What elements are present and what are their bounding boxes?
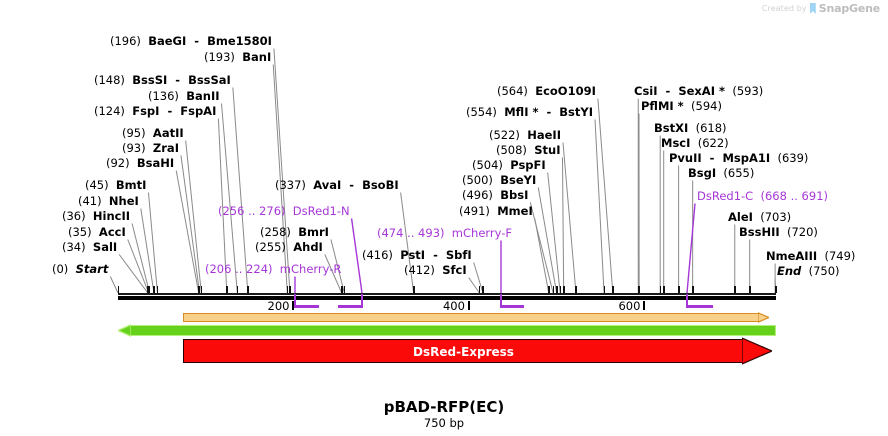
enzyme-site-label[interactable]: CsiI - SexAI * (593) xyxy=(634,85,763,98)
primer-bar[interactable] xyxy=(338,305,363,308)
enzyme-site-label[interactable]: (92) BsaHI xyxy=(106,157,174,170)
promoter-arrowhead-right-icon xyxy=(758,312,769,323)
enzyme-site-label[interactable]: (95) AatII xyxy=(122,127,184,140)
enzyme-site-label[interactable]: (193) BanI xyxy=(204,51,271,64)
enzyme-site-label[interactable]: NmeAIII (749) xyxy=(766,250,855,263)
enzyme-site-label[interactable]: BsgI (655) xyxy=(688,167,754,180)
enzyme-site-label[interactable]: AleI (703) xyxy=(728,211,791,224)
restriction-site-tick xyxy=(287,286,288,293)
restriction-site-tick xyxy=(479,286,480,293)
restriction-site-tick xyxy=(749,286,750,293)
page-title: pBAD-RFP(EC) xyxy=(0,398,888,416)
axis-tick-label: 600 xyxy=(588,299,640,313)
enzyme-site-label[interactable]: (148) BssSI - BssSaI xyxy=(94,74,231,87)
restriction-site-tick xyxy=(201,286,202,293)
enzyme-site-label[interactable]: (258) BmrI xyxy=(260,226,329,239)
primer-feature-label[interactable]: (474 .. 493) mCherry-F xyxy=(377,227,512,240)
restriction-site-tick xyxy=(692,286,693,293)
primer-bar-stem xyxy=(500,294,502,307)
restriction-site-tick xyxy=(344,286,345,293)
restriction-site-tick xyxy=(556,286,557,293)
restriction-site-tick xyxy=(604,286,605,293)
enzyme-site-label[interactable]: (45) BmtI xyxy=(85,179,146,192)
feature-track-promoter[interactable] xyxy=(183,313,768,322)
enzyme-site-label[interactable]: (491) MmeI xyxy=(459,205,533,218)
enzyme-site-label[interactable]: (496) BbsI xyxy=(462,189,528,202)
cds-label: DsRed-Express xyxy=(184,340,743,364)
enzyme-site-label[interactable]: (255) AhdI xyxy=(255,241,323,254)
axis-tick-mark xyxy=(468,301,470,310)
feature-track-reverse[interactable] xyxy=(118,325,776,336)
enzyme-site-label[interactable]: (564) EcoO109I xyxy=(497,85,596,98)
primer-bar[interactable] xyxy=(500,305,524,308)
restriction-site-tick xyxy=(734,286,735,293)
enzyme-site-label[interactable]: (554) MflI * - BstYI xyxy=(466,106,593,119)
snapgene-ribbon-icon xyxy=(810,3,816,14)
primer-bar-stem xyxy=(294,294,296,307)
enzyme-site-label[interactable]: (34) SalI xyxy=(62,241,117,254)
restriction-site-tick xyxy=(560,286,561,293)
cds-bar: DsRed-Express xyxy=(183,339,744,363)
axis-tick-label: 200 xyxy=(237,299,289,313)
snapgene-watermark: Created by SnapGene xyxy=(762,2,880,15)
restriction-site-tick xyxy=(289,286,290,293)
restriction-site-tick xyxy=(237,286,238,293)
enzyme-site-label[interactable]: (36) HincII xyxy=(62,210,130,223)
restriction-site-tick xyxy=(247,286,248,293)
restriction-site-tick xyxy=(678,286,679,293)
enzyme-site-label[interactable]: (504) PspFI xyxy=(472,159,546,172)
restriction-site-tick xyxy=(157,286,158,293)
enzyme-site-label[interactable]: (522) HaeII xyxy=(489,129,561,142)
restriction-site-tick xyxy=(660,286,661,293)
restriction-site-tick xyxy=(639,286,640,293)
restriction-site-tick xyxy=(575,286,576,293)
restriction-site-tick xyxy=(663,286,664,293)
restriction-site-tick xyxy=(612,286,613,293)
restriction-site-tick xyxy=(226,286,227,293)
restriction-site-tick xyxy=(153,286,154,293)
primer-feature-label[interactable]: (256 .. 276) DsRed1-N xyxy=(218,205,350,218)
enzyme-site-label[interactable]: (416) PstI - SbfI xyxy=(362,249,472,262)
restriction-site-tick xyxy=(553,286,554,293)
enzyme-site-label[interactable]: (136) BanII xyxy=(148,90,220,103)
enzyme-site-label[interactable]: BssHII (720) xyxy=(739,226,818,239)
primer-bar[interactable] xyxy=(294,305,319,308)
watermark-created-by-label: Created by xyxy=(762,4,807,13)
axis-tick-mark xyxy=(643,301,645,310)
promoter-bar xyxy=(183,313,759,322)
primer-bar[interactable] xyxy=(686,305,713,308)
restriction-site-tick xyxy=(482,286,483,293)
reverse-feature-bar xyxy=(128,325,776,336)
restriction-site-tick xyxy=(118,286,119,293)
restriction-site-tick xyxy=(147,286,148,293)
restriction-site-tick xyxy=(548,286,549,293)
plasmid-length-label: 750 bp xyxy=(0,416,888,430)
enzyme-site-label[interactable]: (196) BaeGI - Bme1580I xyxy=(110,35,272,48)
enzyme-site-label[interactable]: (412) SfcI xyxy=(404,264,467,277)
enzyme-site-label[interactable]: (41) NheI xyxy=(78,195,139,208)
enzyme-site-label[interactable]: PvuII - MspA1I (639) xyxy=(669,152,808,165)
enzyme-site-label[interactable]: BstXI (618) xyxy=(654,122,727,135)
primer-feature-label[interactable]: DsRed1-C (668 .. 691) xyxy=(697,190,828,203)
plasmid-map-canvas: Created by SnapGene (196) BaeGI - Bme158… xyxy=(0,0,888,436)
enzyme-site-label[interactable]: (124) FspI - FspAI xyxy=(94,105,216,118)
primer-bar-stem xyxy=(361,294,363,307)
reverse-arrowhead-left-icon xyxy=(118,324,131,337)
enzyme-site-label[interactable]: (0) Start xyxy=(52,263,108,276)
restriction-site-tick xyxy=(563,286,564,293)
enzyme-site-label[interactable]: PflMI * (594) xyxy=(641,100,722,113)
restriction-site-tick xyxy=(413,286,414,293)
restriction-site-tick xyxy=(341,286,342,293)
feature-track-cds[interactable]: DsRed-Express xyxy=(183,339,768,363)
cds-arrowhead-right-icon xyxy=(742,336,772,366)
enzyme-site-label[interactable]: (500) BseYI xyxy=(462,174,536,187)
enzyme-site-label[interactable]: MscI (622) xyxy=(661,137,729,150)
enzyme-site-label[interactable]: (35) AccI xyxy=(68,226,126,239)
watermark-brand-label: SnapGene xyxy=(819,2,880,15)
axis-tick-label: 400 xyxy=(413,299,465,313)
enzyme-site-label[interactable]: (508) StuI xyxy=(496,144,560,157)
axis-thin-line xyxy=(118,293,776,295)
enzyme-site-label[interactable]: (337) AvaI - BsoBI xyxy=(275,179,399,192)
restriction-site-tick xyxy=(776,286,777,293)
enzyme-site-label[interactable]: End (750) xyxy=(777,265,840,278)
enzyme-site-label[interactable]: (93) ZraI xyxy=(122,142,179,155)
primer-feature-label[interactable]: (206 .. 224) mCherry-R xyxy=(205,263,341,276)
restriction-site-tick xyxy=(198,286,199,293)
primer-bar-stem xyxy=(686,294,688,307)
